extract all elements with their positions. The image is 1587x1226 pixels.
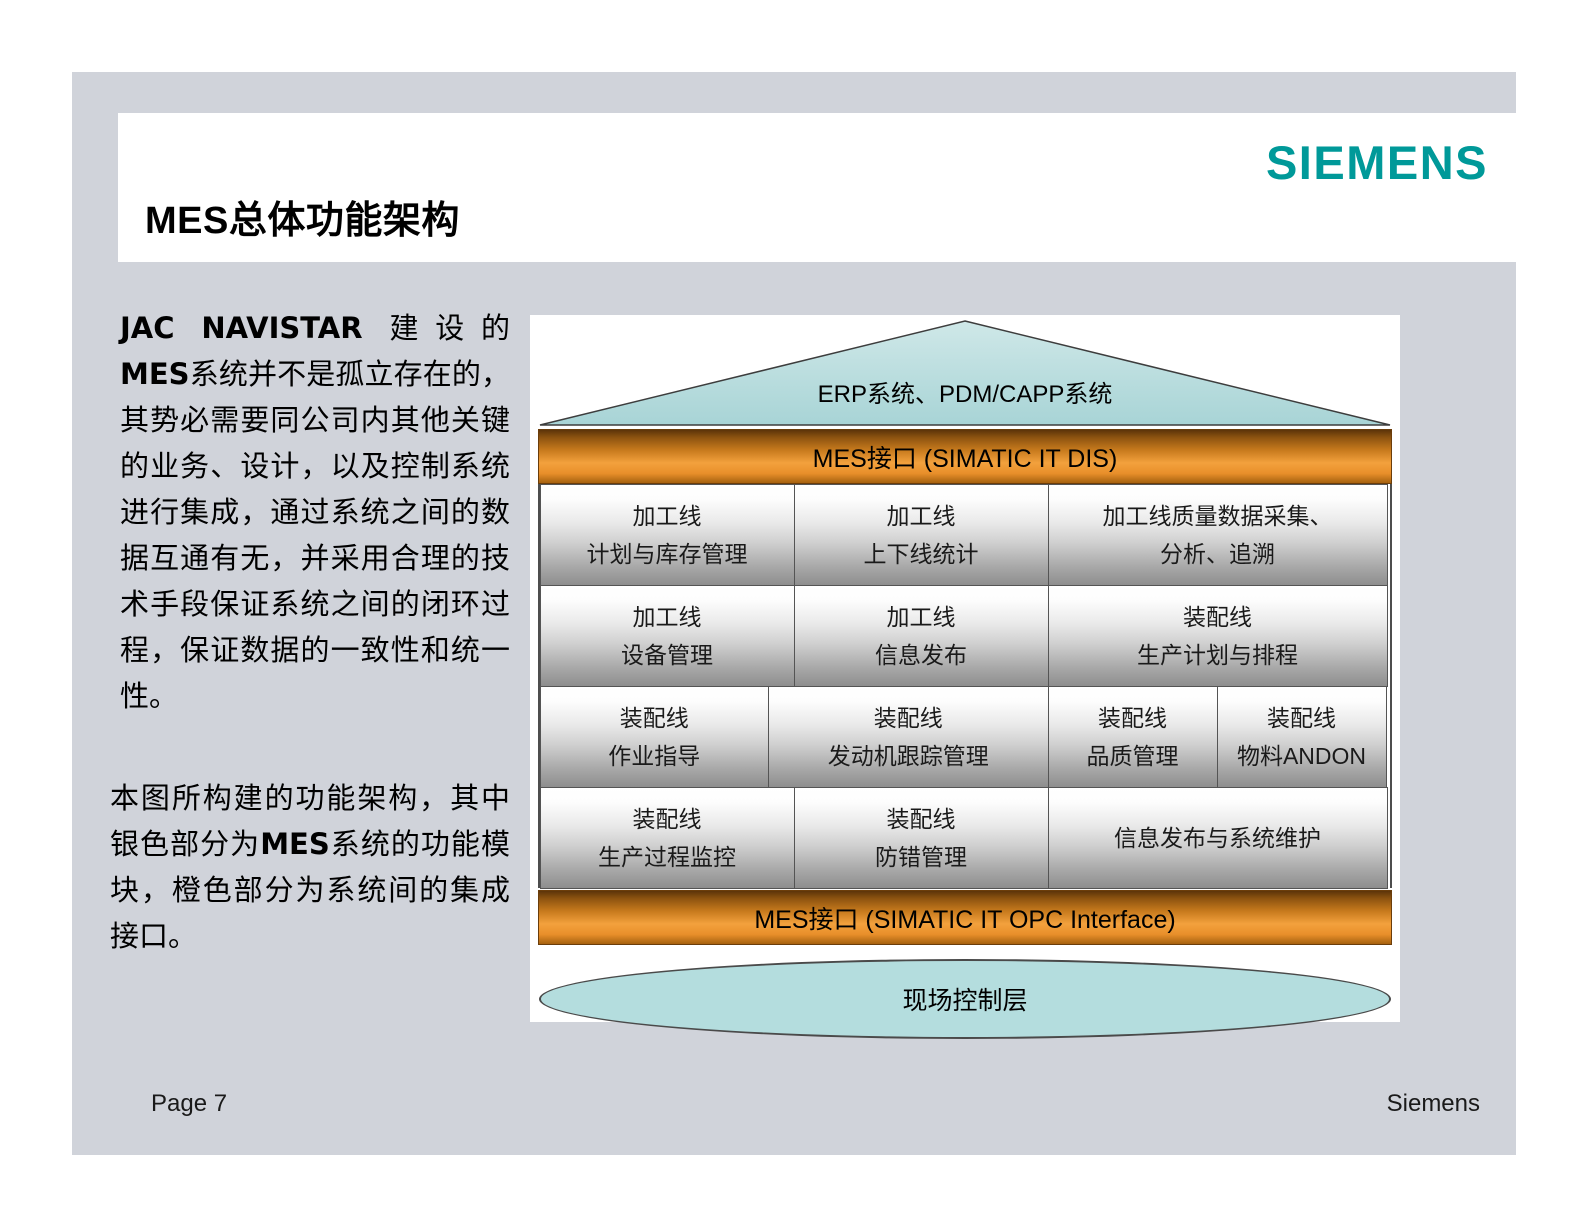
- field-control-layer: 现场控制层: [538, 955, 1392, 1047]
- narrative-p1-rest-b: 系统并不是孤立存在的，其势必需要同公司内其他关键的业务、设计，以及控制系统进行集…: [120, 357, 510, 713]
- module-cell-line1: 装配线: [1183, 598, 1252, 636]
- module-cell-line1: 装配线: [620, 699, 689, 737]
- roof-label: ERP系统、PDM/CAPP系统: [538, 374, 1392, 409]
- mes-interface-top: MES接口 (SIMATIC IT DIS): [538, 429, 1392, 484]
- module-cell-line1: 加工线: [887, 497, 956, 535]
- module-cell-line1: 装配线: [633, 800, 702, 838]
- module-cell-line2: 物料ANDON: [1237, 737, 1366, 775]
- narrative-paragraph-1: JAC NAVISTAR 建设的MES系统并不是孤立存在的，其势必需要同公司内其…: [110, 305, 510, 719]
- module-cell-line2: 发动机跟踪管理: [828, 737, 989, 775]
- module-cell-line1: 装配线: [1267, 699, 1336, 737]
- module-cell-line2: 作业指导: [608, 737, 700, 775]
- roof-triangle-icon: [538, 319, 1392, 427]
- module-cell-line1: 装配线: [1098, 699, 1167, 737]
- module-cell[interactable]: 加工线信息发布: [794, 585, 1049, 687]
- module-cell[interactable]: 装配线生产计划与排程: [1048, 585, 1388, 687]
- module-row: 装配线作业指导装配线发动机跟踪管理装配线品质管理装配线物料ANDON: [540, 686, 1390, 787]
- slide-header: MES总体功能架构 SIEMENS: [118, 113, 1516, 262]
- narrative-bold-mes: MES: [120, 357, 190, 391]
- module-cell-line1: 信息发布与系统维护: [1114, 823, 1321, 853]
- footer-brand: Siemens: [1387, 1090, 1480, 1118]
- field-control-label: 现场控制层: [902, 981, 1027, 1017]
- module-cell-line2: 生产过程监控: [598, 838, 736, 876]
- page-title: MES总体功能架构: [145, 189, 460, 244]
- module-cell-line1: 加工线: [633, 497, 702, 535]
- mes-interface-bottom-label: MES接口 (SIMATIC IT OPC Interface): [754, 900, 1175, 936]
- module-cell[interactable]: 装配线品质管理: [1048, 686, 1218, 788]
- module-cell-line2: 设备管理: [621, 636, 713, 674]
- module-row: 装配线生产过程监控装配线防错管理信息发布与系统维护: [540, 787, 1390, 888]
- narrative-bold-mes-2: MES: [260, 827, 330, 861]
- module-cell-line2: 防错管理: [875, 838, 967, 876]
- narrative-paragraph-2: 本图所构建的功能架构，其中银色部分为MES系统的功能模块，橙色部分为系统间的集成…: [110, 775, 510, 959]
- module-cell-line1: 装配线: [874, 699, 943, 737]
- footer-page-number: Page 7: [151, 1090, 227, 1118]
- narrative-p1-rest-a: 建设的: [389, 311, 510, 345]
- module-cell-line1: 装配线: [887, 800, 956, 838]
- module-cell-line2: 品质管理: [1087, 737, 1179, 775]
- narrative-column: JAC NAVISTAR 建设的MES系统并不是孤立存在的，其势必需要同公司内其…: [110, 305, 510, 959]
- mes-interface-bottom: MES接口 (SIMATIC IT OPC Interface): [538, 890, 1392, 945]
- diagram-inner: ERP系统、PDM/CAPP系统 MES接口 (SIMATIC IT DIS) …: [538, 319, 1392, 1018]
- module-cell-line2: 信息发布: [875, 636, 967, 674]
- module-cell-line2: 上下线统计: [864, 535, 979, 573]
- module-cell-line1: 加工线: [633, 598, 702, 636]
- module-cell[interactable]: 加工线计划与库存管理: [540, 484, 795, 586]
- architecture-diagram: ERP系统、PDM/CAPP系统 MES接口 (SIMATIC IT DIS) …: [530, 315, 1400, 1022]
- module-cell[interactable]: 装配线发动机跟踪管理: [768, 686, 1049, 788]
- module-cell-line2: 分析、追溯: [1160, 535, 1275, 573]
- module-cell[interactable]: 加工线上下线统计: [794, 484, 1049, 586]
- module-cell[interactable]: 加工线质量数据采集、分析、追溯: [1048, 484, 1388, 586]
- module-cell[interactable]: 装配线作业指导: [540, 686, 770, 788]
- field-control-ellipse: 现场控制层: [539, 959, 1391, 1039]
- module-cell[interactable]: 加工线设备管理: [540, 585, 795, 687]
- narrative-bold-jac: JAC NAVISTAR: [120, 311, 389, 345]
- module-grid: 加工线计划与库存管理加工线上下线统计加工线质量数据采集、分析、追溯加工线设备管理…: [538, 484, 1392, 888]
- module-cell[interactable]: 装配线防错管理: [794, 787, 1049, 889]
- module-cell[interactable]: 装配线生产过程监控: [540, 787, 795, 889]
- module-cell-line2: 计划与库存管理: [587, 535, 748, 573]
- mes-interface-top-label: MES接口 (SIMATIC IT DIS): [813, 439, 1118, 475]
- module-row: 加工线设备管理加工线信息发布装配线生产计划与排程: [540, 585, 1390, 686]
- module-cell[interactable]: 信息发布与系统维护: [1048, 787, 1388, 889]
- module-cell[interactable]: 装配线物料ANDON: [1217, 686, 1387, 788]
- slide-canvas: MES总体功能架构 SIEMENS JAC NAVISTAR 建设的MES系统并…: [72, 72, 1516, 1155]
- module-row: 加工线计划与库存管理加工线上下线统计加工线质量数据采集、分析、追溯: [540, 484, 1390, 585]
- roof-shape: ERP系统、PDM/CAPP系统: [538, 319, 1392, 427]
- module-cell-line2: 生产计划与排程: [1137, 636, 1298, 674]
- siemens-logo: SIEMENS: [1266, 135, 1488, 190]
- module-cell-line1: 加工线质量数据采集、: [1103, 497, 1333, 535]
- module-cell-line1: 加工线: [887, 598, 956, 636]
